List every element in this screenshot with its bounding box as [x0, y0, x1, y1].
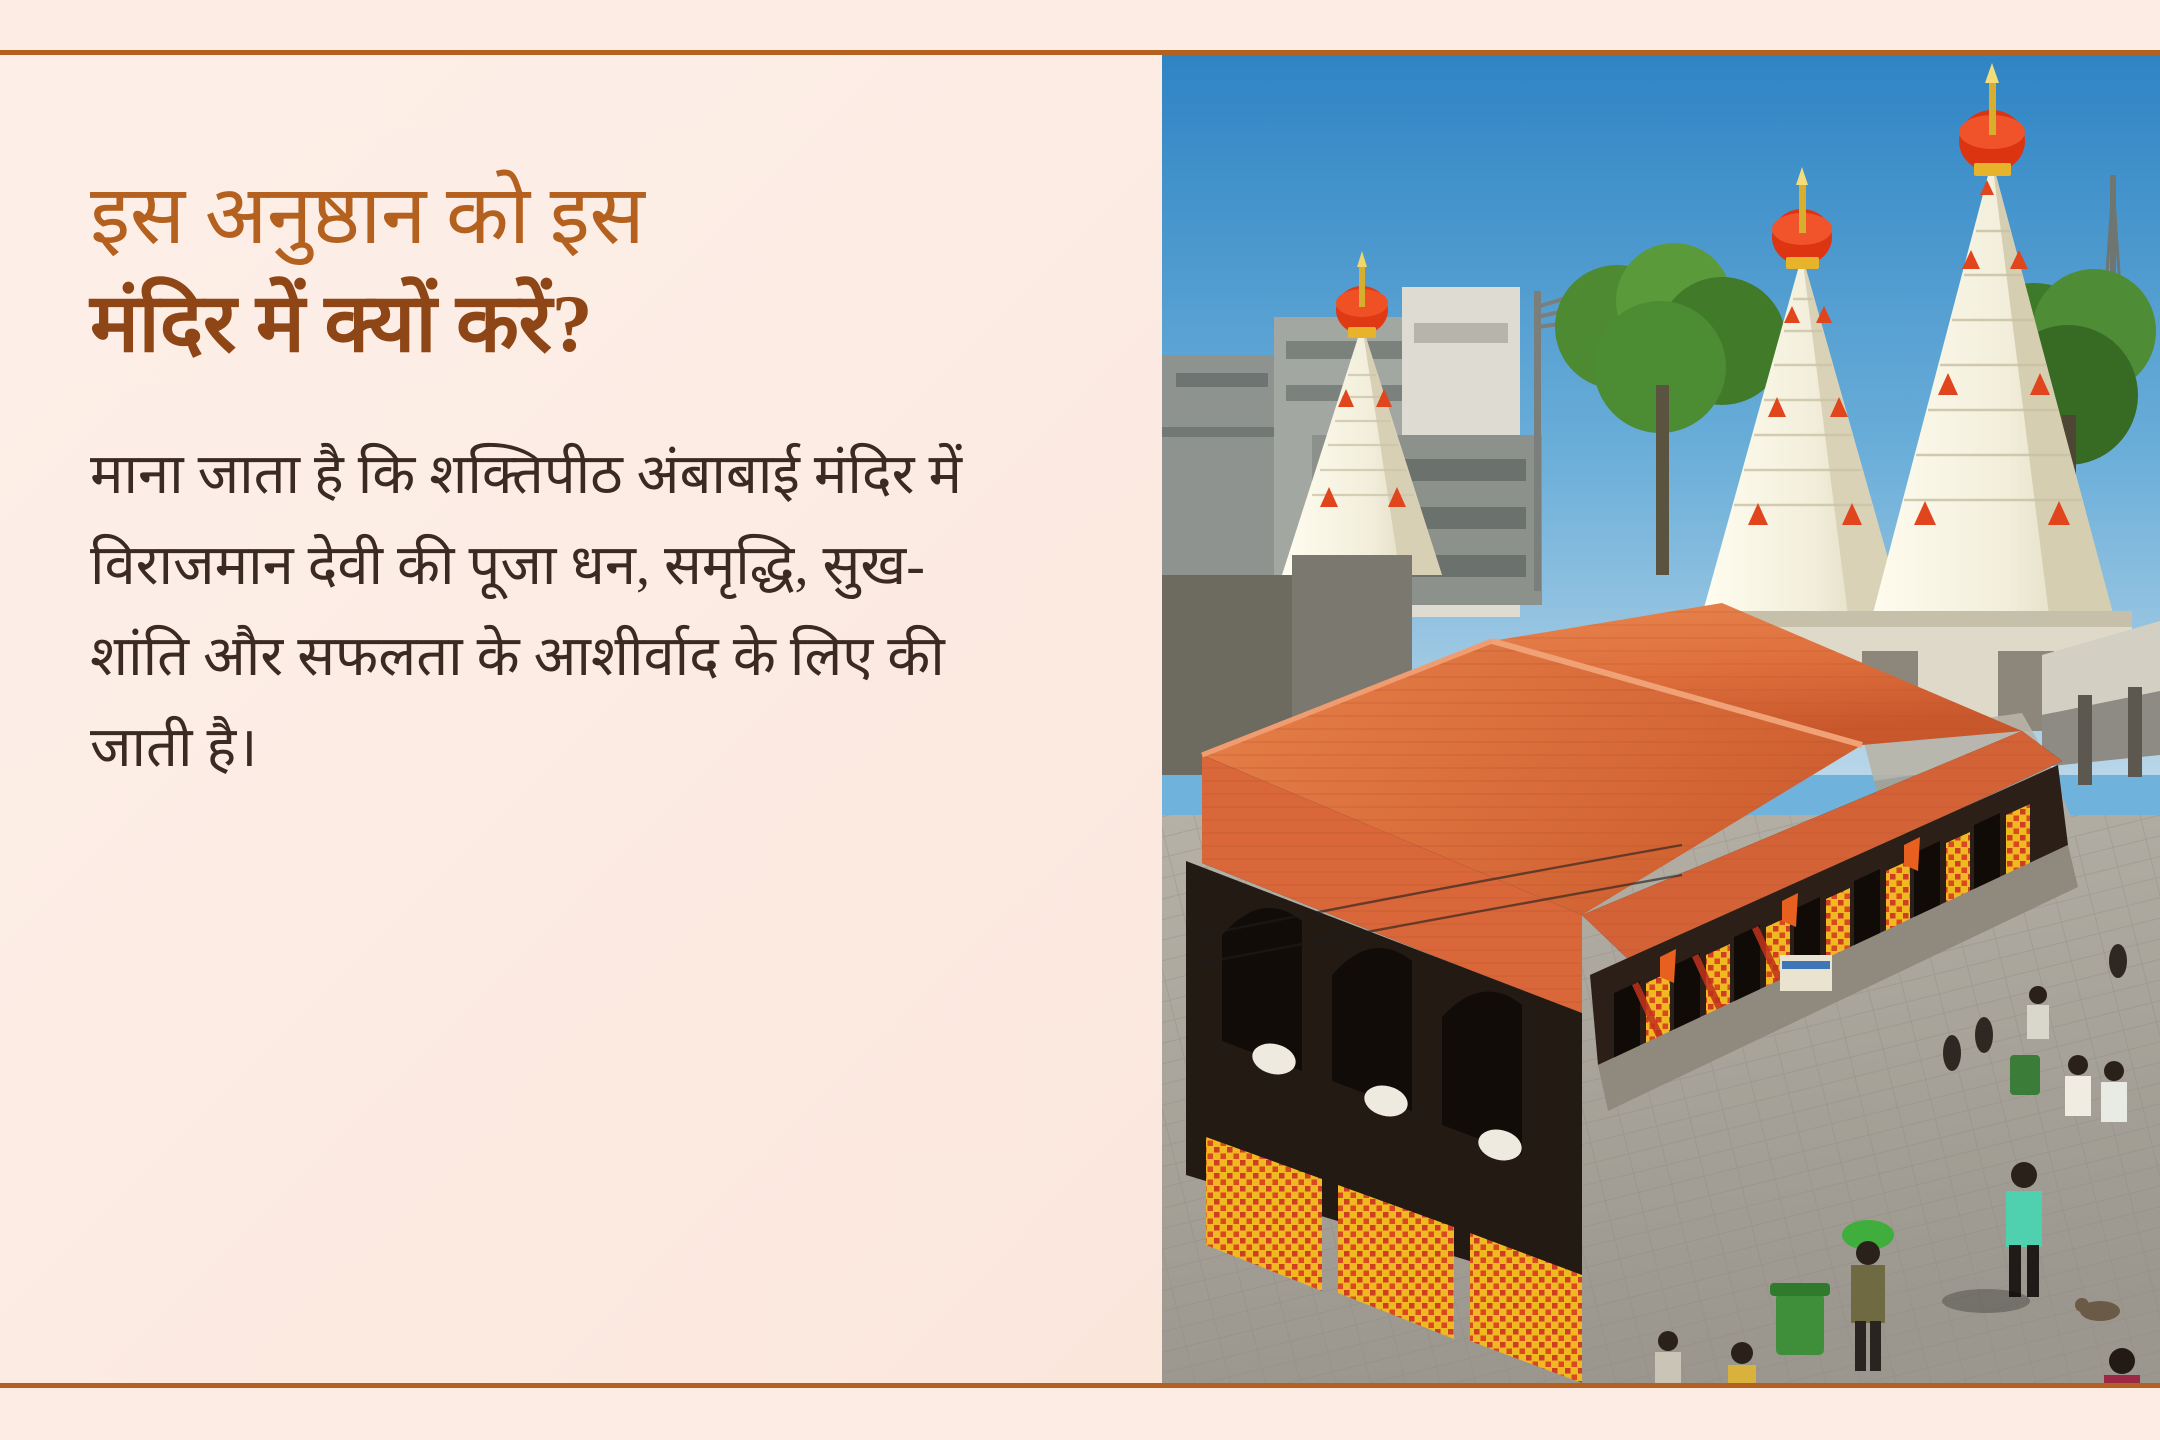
text-panel: इस अनुष्ठान को इस मंदिर में क्यों करें? … [0, 55, 1162, 1383]
slide-root: इस अनुष्ठान को इस मंदिर में क्यों करें? … [0, 0, 2160, 1440]
temple-illustration [1162, 55, 2160, 1383]
page-title: इस अनुष्ठान को इस मंदिर में क्यों करें? [90, 165, 1072, 374]
heading-line-1: इस अनुष्ठान को इस [90, 165, 1072, 267]
body-paragraph: माना जाता है कि शक्तिपीठ अंबाबाई मंदिर म… [90, 430, 990, 793]
temple-photo [1162, 55, 2160, 1383]
bottom-accent-rule [0, 1383, 2160, 1388]
signboard [1780, 955, 1832, 991]
heading-line-2: मंदिर में क्यों करें? [90, 273, 1072, 375]
